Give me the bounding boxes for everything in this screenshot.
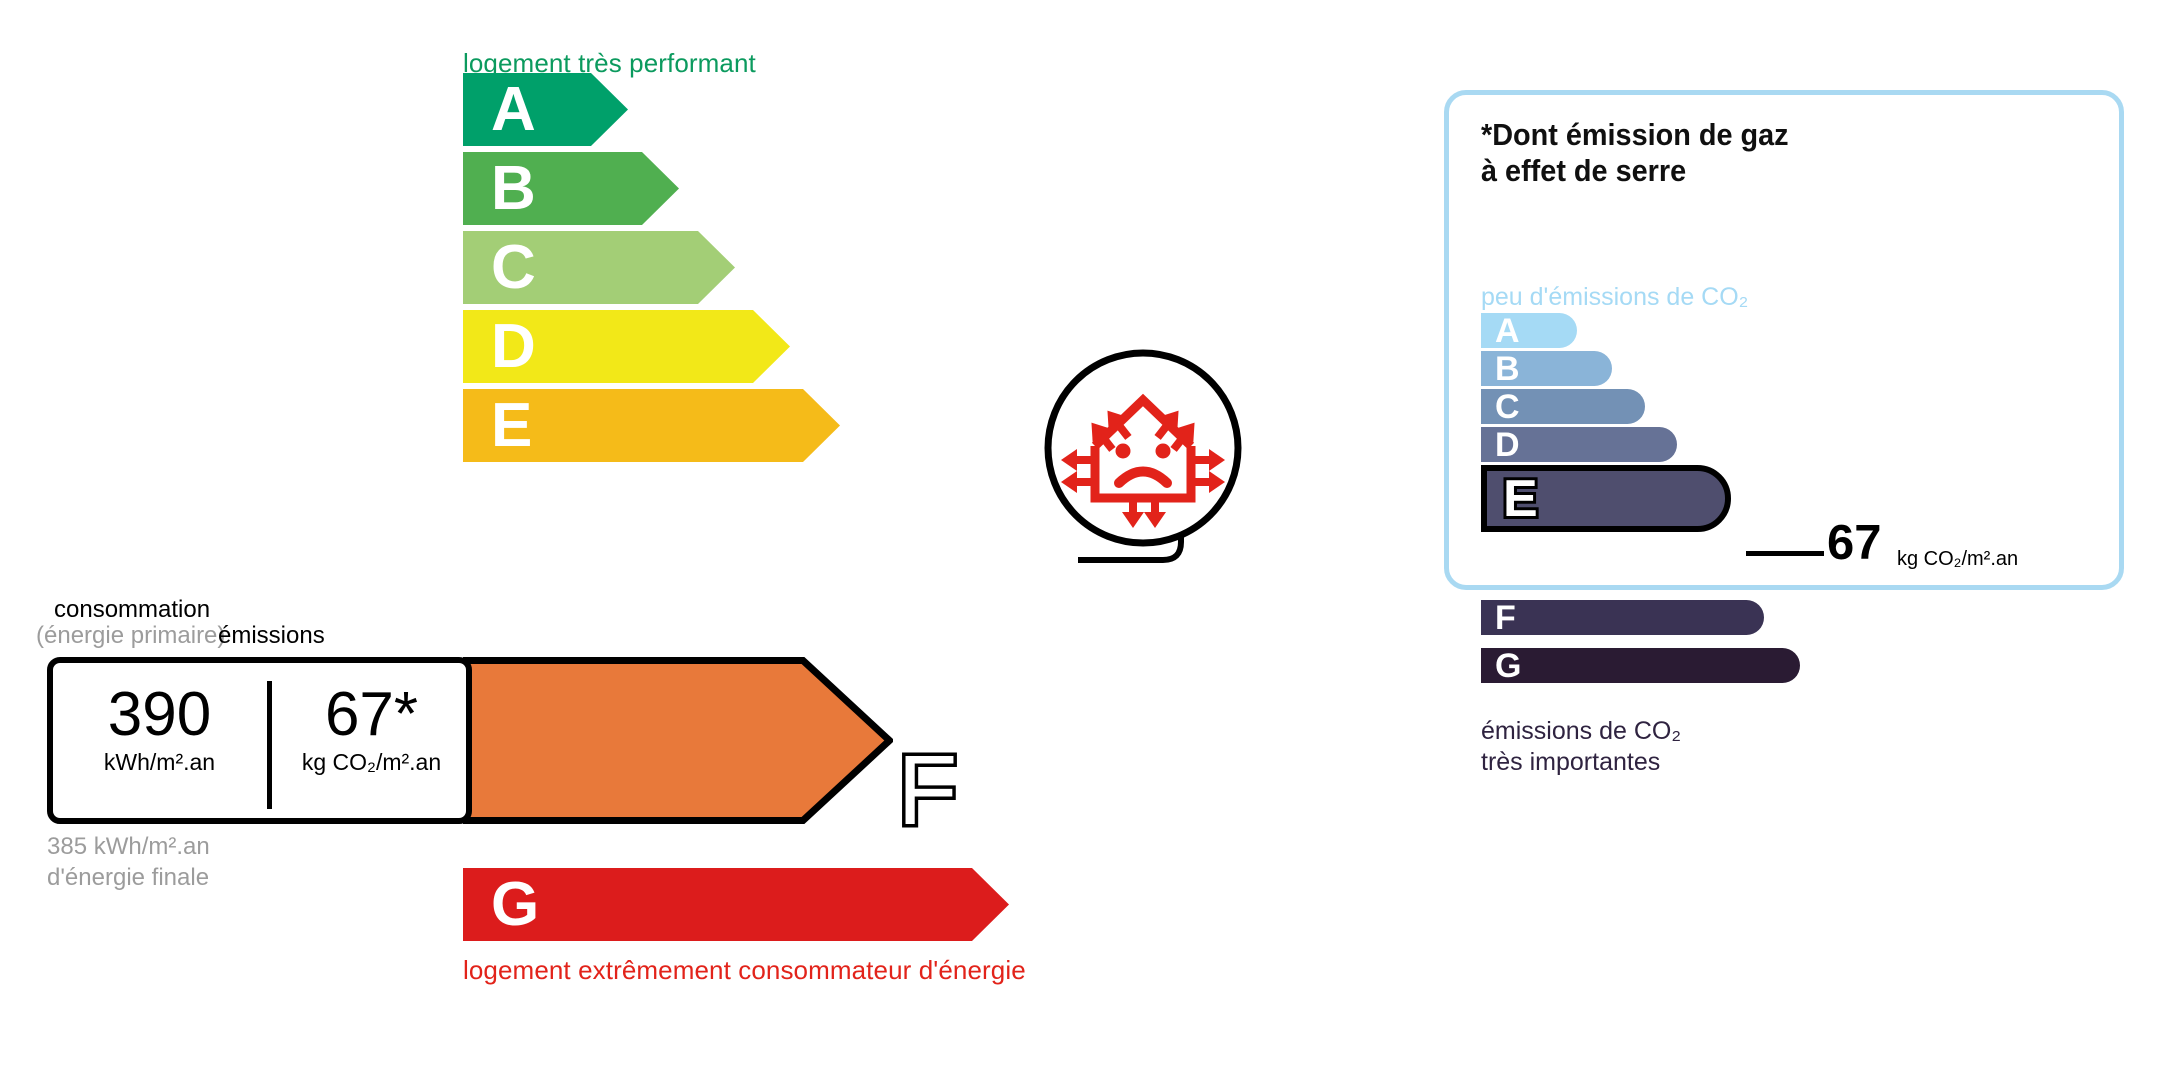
co2-bottom-line1: émissions de CO₂: [1481, 716, 1681, 747]
co2-bar-c-letter: C: [1495, 390, 1520, 424]
co2-top-label: peu d'émissions de CO₂: [1481, 283, 1748, 312]
energy-band-a-letter: A: [491, 79, 536, 141]
energy-band-g-letter: G: [491, 874, 539, 936]
co2-bar-f: F: [1481, 600, 1764, 635]
co2-panel-title: *Dont émission de gaz à effet de serre: [1481, 117, 1789, 189]
energy-band-g: G: [463, 868, 1009, 941]
energy-band-d: D: [463, 310, 790, 383]
co2-bottom-label: émissions de CO₂ très importantes: [1481, 716, 1681, 779]
energy-band-e: E: [463, 389, 840, 462]
co2-bar-f-letter: F: [1495, 601, 1516, 635]
sad-house-heat-loss-icon: [1043, 348, 1243, 548]
primary-energy-unit: kWh/m².an: [57, 749, 262, 776]
energy-band-f-letter: F: [897, 735, 957, 845]
co2-bar-a: A: [1481, 313, 1577, 348]
emissions-value: 67*: [273, 683, 470, 747]
co2-bar-a-letter: A: [1495, 314, 1520, 348]
energy-band-e-letter: E: [491, 395, 532, 457]
primary-energy-sublabel: (énergie primaire): [36, 622, 225, 650]
energy-band-a: A: [463, 73, 628, 146]
co2-bar-d-letter: D: [1495, 428, 1520, 462]
co2-title-line2: à effet de serre: [1481, 153, 1789, 189]
energy-band-c: C: [463, 231, 735, 304]
box-divider: [267, 681, 272, 809]
co2-callout-value: 67: [1827, 515, 1882, 571]
co2-callout-unit: kg CO₂/m².an: [1897, 548, 2018, 571]
co2-bar-b-letter: B: [1495, 352, 1520, 386]
co2-bar-e-current: E: [1481, 465, 1731, 532]
emissions-label: émissions: [218, 622, 325, 650]
final-energy-caption: d'énergie finale: [47, 863, 210, 894]
co2-bar-c: C: [1481, 389, 1645, 424]
energy-band-c-letter: C: [491, 237, 536, 299]
co2-callout-leader-line: [1746, 551, 1824, 556]
co2-title-line1: *Dont émission de gaz: [1481, 117, 1789, 153]
primary-energy-value: 390: [57, 683, 262, 747]
co2-bar-e-letter: E: [1503, 473, 1538, 525]
co2-bar-g-letter: G: [1495, 649, 1521, 683]
co2-bar-b: B: [1481, 351, 1612, 386]
consumption-value-box: 390 kWh/m².an 67* kg CO₂/m².an: [47, 657, 472, 824]
energy-band-b-letter: B: [491, 158, 536, 220]
co2-bottom-line2: très importantes: [1481, 747, 1681, 778]
final-energy-note: 385 kWh/m².an d'énergie finale: [47, 832, 210, 893]
energy-band-b: B: [463, 152, 679, 225]
energy-bottom-label: logement extrêmement consommateur d'éner…: [463, 955, 1026, 986]
co2-bar-d: D: [1481, 427, 1677, 462]
emissions-unit: kg CO₂/m².an: [273, 749, 470, 776]
consumption-label: consommation: [54, 596, 210, 624]
energy-band-f-current: F: [463, 657, 957, 847]
final-energy-value: 385 kWh/m².an: [47, 832, 210, 863]
energy-band-d-letter: D: [491, 316, 536, 378]
emissions-value-cell: 67* kg CO₂/m².an: [273, 683, 470, 776]
co2-bar-g: G: [1481, 648, 1800, 683]
primary-energy-value-cell: 390 kWh/m².an: [57, 683, 262, 776]
